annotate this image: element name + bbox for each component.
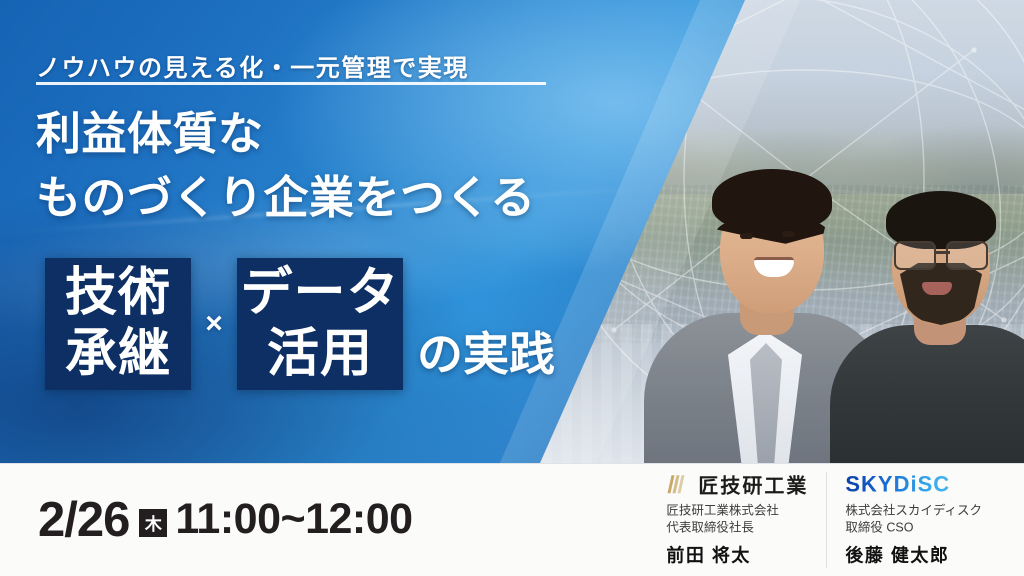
keyword-box-1-line-2: 承継 <box>65 324 171 385</box>
headline-line-1: 利益体質な <box>36 102 536 166</box>
keyword-box-2-line-1: データ <box>240 263 399 324</box>
speaker-card-2: SKYDiSC 株式会社スカイディスク 取締役 CSO 後藤 健太郎 <box>826 472 1000 568</box>
webinar-banner: ノウハウの見える化・一元管理で実現 利益体質な ものづくり企業をつくる 技術 承… <box>0 0 1024 576</box>
footer-divider <box>0 463 1024 464</box>
eyebrow-underline <box>36 82 546 85</box>
speaker-2-role: 取締役 CSO <box>845 520 982 538</box>
footer-bar: 2/26 木 11:00~12:00 匠技研工業 <box>0 463 1024 576</box>
headline-copy-block: ノウハウの見える化・一元管理で実現 利益体質な ものづくり企業をつくる 技術 承… <box>0 0 660 463</box>
speaker-2-logo: SKYDiSC <box>845 472 982 496</box>
speaker-2-name: 後藤 健太郎 <box>845 541 982 567</box>
event-date: 2/26 <box>38 492 129 548</box>
keyword-row: 技術 承継 × データ 活用 の実践 <box>45 258 555 390</box>
keyword-box-data-utilization: データ 活用 <box>237 258 403 390</box>
speaker-1-logo-text: 匠技研工業 <box>698 469 808 498</box>
speaker-1-organization: 匠技研工業株式会社 <box>666 502 808 520</box>
headline-line-2: ものづくり企業をつくる <box>36 166 536 230</box>
speaker-1-logo: 匠技研工業 <box>666 472 808 496</box>
keyword-box-2-line-2: 活用 <box>267 324 373 385</box>
headline: 利益体質な ものづくり企業をつくる <box>36 102 536 230</box>
glasses-icon <box>892 241 990 267</box>
multiply-icon: × <box>191 307 237 341</box>
keyword-tail-text: の実践 <box>417 318 555 390</box>
keyword-box-technology-succession: 技術 承継 <box>45 258 191 390</box>
speaker-2-logo-text: SKYDiSC <box>845 471 950 497</box>
speaker-2-organization: 株式会社スカイディスク <box>845 502 982 520</box>
speaker-list: 匠技研工業 匠技研工業株式会社 代表取締役社長 前田 将太 SKYDiSC 株式… <box>648 472 1000 568</box>
speaker-1-name: 前田 将太 <box>666 541 808 567</box>
hero-visual: ノウハウの見える化・一元管理で実現 利益体質な ものづくり企業をつくる 技術 承… <box>0 0 1024 463</box>
speaker-1-role: 代表取締役社長 <box>666 520 808 538</box>
event-day-badge: 木 <box>139 509 167 537</box>
eyebrow-text: ノウハウの見える化・一元管理で実現 <box>36 48 469 83</box>
takumi-mark-icon <box>666 474 688 494</box>
event-time: 11:00~12:00 <box>175 495 412 544</box>
presenter-photo-right <box>830 163 1024 463</box>
speaker-card-1: 匠技研工業 匠技研工業株式会社 代表取締役社長 前田 将太 <box>648 472 826 568</box>
keyword-box-1-line-1: 技術 <box>65 263 171 324</box>
event-datetime: 2/26 木 11:00~12:00 <box>38 492 413 548</box>
